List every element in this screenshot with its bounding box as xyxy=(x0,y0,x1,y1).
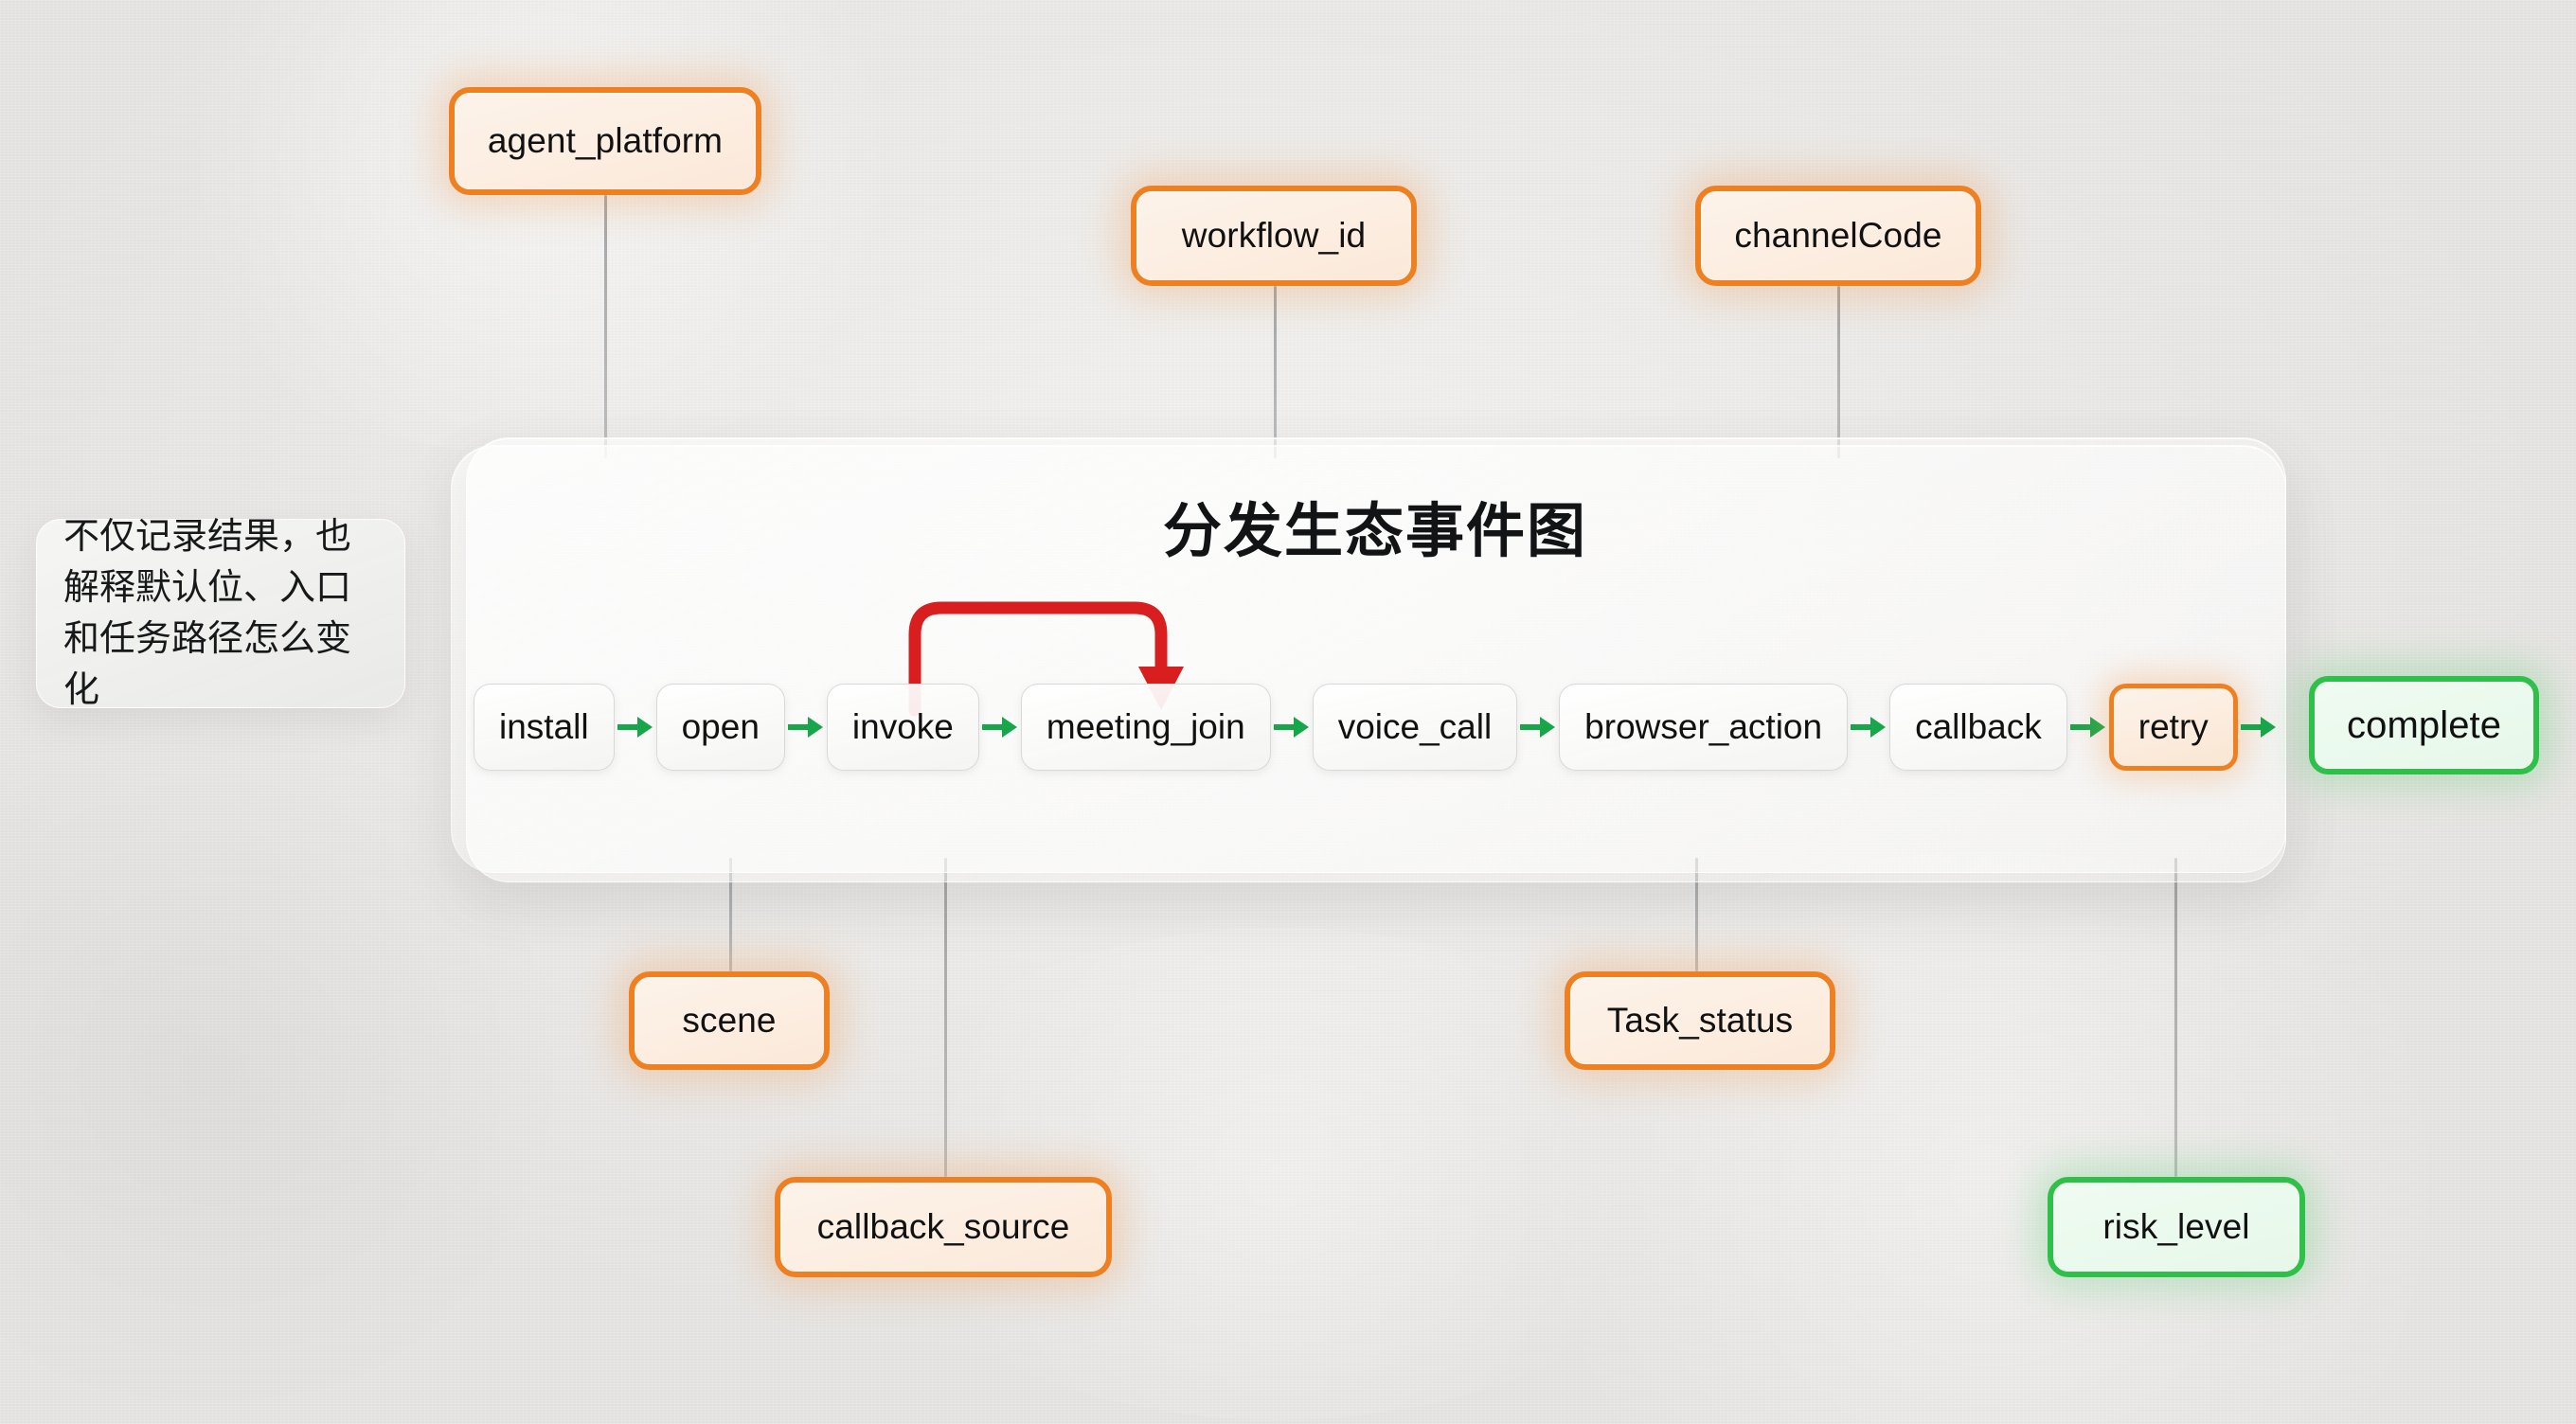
tag-label: scene xyxy=(682,1001,776,1041)
pipeline-step-complete[interactable]: complete xyxy=(2309,676,2539,774)
connector-risk-level xyxy=(2174,858,2177,1177)
pipeline-step-label: callback xyxy=(1915,707,2042,747)
tag-task-status[interactable]: Task_status xyxy=(1565,971,1835,1070)
tag-label: callback_source xyxy=(817,1207,1070,1247)
tag-scene[interactable]: scene xyxy=(629,971,830,1070)
background-highlight-2 xyxy=(1421,852,2557,1424)
pipeline-step-browser-action[interactable]: browser_action xyxy=(1559,684,1848,771)
tag-label: agent_platform xyxy=(488,121,723,161)
explanatory-note-card: 不仅记录结果，也解释默认位、入口和任务路径怎么变化 xyxy=(36,519,405,708)
tag-label: risk_level xyxy=(2102,1207,2249,1247)
arrow-right-icon xyxy=(785,715,827,739)
tag-channel-code[interactable]: channelCode xyxy=(1695,186,1981,286)
event-pipeline: installopeninvokemeeting_joinvoice_callb… xyxy=(474,684,2280,771)
arrow-right-icon xyxy=(1848,715,1889,739)
diagram-canvas: 分发生态事件图 不仅记录结果，也解释默认位、入口和任务路径怎么变化 instal… xyxy=(0,0,2576,1424)
connector-agent-platform xyxy=(604,195,607,458)
arrow-right-icon xyxy=(2067,715,2109,739)
pipeline-step-callback[interactable]: callback xyxy=(1889,684,2067,771)
tag-label: Task_status xyxy=(1607,1001,1793,1041)
tag-callback-source[interactable]: callback_source xyxy=(775,1177,1112,1277)
tag-agent-platform[interactable]: agent_platform xyxy=(449,87,761,195)
pipeline-step-meeting-join[interactable]: meeting_join xyxy=(1021,684,1271,771)
pipeline-step-label: retry xyxy=(2138,707,2209,747)
pipeline-step-label: install xyxy=(499,707,589,747)
pipeline-step-invoke[interactable]: invoke xyxy=(827,684,979,771)
pipeline-step-open[interactable]: open xyxy=(656,684,785,771)
pipeline-step-retry[interactable]: retry xyxy=(2109,684,2238,771)
arrow-right-icon xyxy=(615,715,656,739)
pipeline-step-label: meeting_join xyxy=(1046,707,1245,747)
pipeline-step-label: invoke xyxy=(852,707,954,747)
pipeline-step-install[interactable]: install xyxy=(474,684,615,771)
pipeline-step-label: complete xyxy=(2347,704,2501,747)
arrow-right-icon xyxy=(979,715,1021,739)
arrow-right-icon xyxy=(1271,715,1313,739)
connector-callback-source xyxy=(944,858,947,1177)
tag-risk-level[interactable]: risk_level xyxy=(2048,1177,2305,1277)
pipeline-step-voice-call[interactable]: voice_call xyxy=(1313,684,1517,771)
page-title: 分发生态事件图 xyxy=(466,483,2284,568)
tag-label: channelCode xyxy=(1734,216,1941,256)
tag-workflow-id[interactable]: workflow_id xyxy=(1131,186,1417,286)
arrow-right-icon xyxy=(1517,715,1559,739)
explanatory-note-text: 不仅记录结果，也解释默认位、入口和任务路径怎么变化 xyxy=(63,511,378,716)
pipeline-step-label: browser_action xyxy=(1584,707,1822,747)
pipeline-step-label: open xyxy=(682,707,760,747)
arrow-right-icon xyxy=(2238,715,2280,739)
background-highlight-1 xyxy=(114,0,966,454)
pipeline-step-label: voice_call xyxy=(1338,707,1492,747)
tag-label: workflow_id xyxy=(1182,216,1366,256)
connector-channel-code xyxy=(1837,286,1840,458)
connector-workflow-id xyxy=(1274,286,1277,458)
